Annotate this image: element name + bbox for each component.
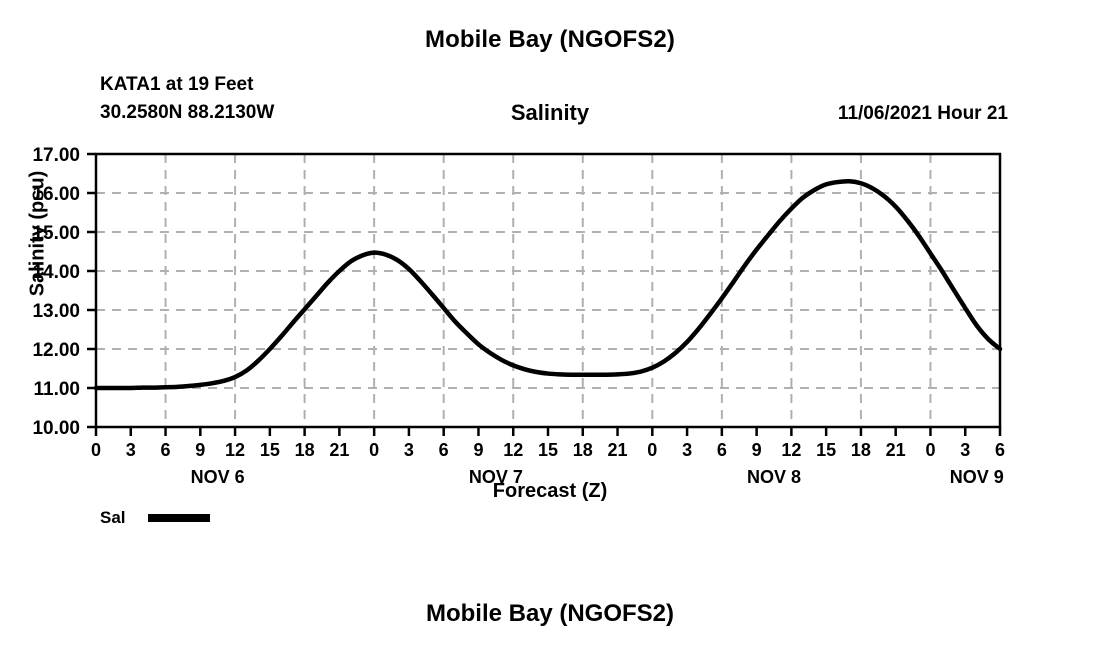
x-axis-ticks bbox=[96, 427, 1000, 436]
x-axis-tick-labels: 036912151821036912151821036912151821036 bbox=[91, 440, 1005, 460]
svg-text:12.00: 12.00 bbox=[32, 340, 80, 361]
svg-text:3: 3 bbox=[682, 440, 692, 460]
svg-text:18: 18 bbox=[851, 440, 871, 460]
x-axis-title: Forecast (Z) bbox=[0, 480, 1100, 503]
svg-text:11.00: 11.00 bbox=[34, 379, 81, 400]
svg-text:18: 18 bbox=[573, 440, 593, 460]
svg-text:10.00: 10.00 bbox=[32, 418, 80, 439]
svg-text:3: 3 bbox=[126, 440, 136, 460]
svg-text:0: 0 bbox=[369, 440, 379, 460]
y-axis-title: Salinity (psu) bbox=[27, 134, 50, 334]
svg-text:21: 21 bbox=[608, 440, 628, 460]
svg-text:6: 6 bbox=[439, 440, 449, 460]
series-salinity bbox=[96, 181, 1000, 388]
svg-text:21: 21 bbox=[329, 440, 349, 460]
svg-text:12: 12 bbox=[503, 440, 523, 460]
svg-text:18: 18 bbox=[295, 440, 315, 460]
plot-frame bbox=[96, 154, 1000, 427]
svg-text:6: 6 bbox=[995, 440, 1005, 460]
svg-text:9: 9 bbox=[195, 440, 205, 460]
svg-text:9: 9 bbox=[752, 440, 762, 460]
svg-text:6: 6 bbox=[161, 440, 171, 460]
chart-page: Mobile Bay (NGOFS2) KATA1 at 19 Feet 30.… bbox=[0, 0, 1100, 650]
svg-text:6: 6 bbox=[717, 440, 727, 460]
svg-text:15: 15 bbox=[260, 440, 280, 460]
svg-text:0: 0 bbox=[91, 440, 101, 460]
plot-container: 10.0011.0012.0013.0014.0015.0016.0017.00… bbox=[0, 0, 1100, 650]
svg-text:3: 3 bbox=[404, 440, 414, 460]
footer-title: Mobile Bay (NGOFS2) bbox=[0, 600, 1100, 628]
svg-text:0: 0 bbox=[925, 440, 935, 460]
legend-item-label: Sal bbox=[100, 508, 126, 528]
svg-text:0: 0 bbox=[647, 440, 657, 460]
grid-lines bbox=[96, 154, 1000, 427]
salinity-line-chart: 10.0011.0012.0013.0014.0015.0016.0017.00… bbox=[0, 0, 1100, 650]
svg-text:12: 12 bbox=[781, 440, 801, 460]
svg-text:15: 15 bbox=[538, 440, 558, 460]
svg-text:21: 21 bbox=[886, 440, 906, 460]
svg-text:12: 12 bbox=[225, 440, 245, 460]
legend-color-swatch bbox=[148, 514, 210, 522]
svg-text:3: 3 bbox=[960, 440, 970, 460]
svg-text:15: 15 bbox=[816, 440, 836, 460]
y-axis-ticks bbox=[87, 154, 96, 427]
chart-legend: Sal bbox=[100, 508, 210, 528]
svg-text:9: 9 bbox=[473, 440, 483, 460]
